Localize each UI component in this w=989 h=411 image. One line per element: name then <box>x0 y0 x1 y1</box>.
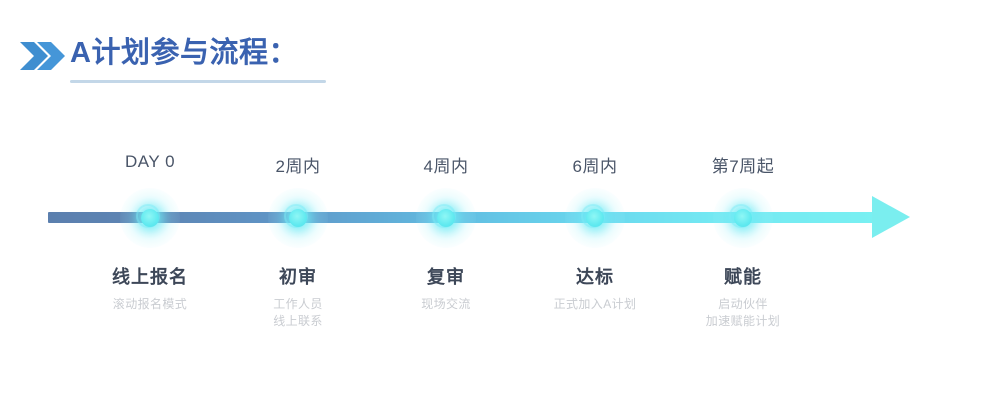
step-time-3: 4周内 <box>424 152 469 177</box>
step-desc-3: 现场交流 <box>421 296 471 313</box>
step-desc-1-line-1: 滚动报名模式 <box>113 296 187 313</box>
step-desc-2-line-2: 线上联系 <box>273 313 323 330</box>
step-desc-2: 工作人员 线上联系 <box>273 296 323 330</box>
node-dot-icon <box>437 209 455 227</box>
step-desc-3-line-1: 现场交流 <box>421 296 471 313</box>
step-desc-4-line-1: 正式加入A计划 <box>554 296 637 313</box>
node-dot-icon <box>141 209 159 227</box>
step-time-2: 2周内 <box>276 152 321 177</box>
step-title-3: 复审 <box>427 263 465 289</box>
step-time-5: 第7周起 <box>712 152 774 177</box>
step-time-4: 6周内 <box>573 152 618 177</box>
step-title-5: 赋能 <box>724 263 762 289</box>
node-dot-icon <box>289 209 307 227</box>
node-dot-icon <box>734 209 752 227</box>
arrow-right-icon <box>872 196 910 238</box>
timeline-diagram: DAY 0 线上报名 滚动报名模式 2周内 初审 工作人员 线上联系 4周内 复… <box>0 0 989 411</box>
step-desc-1: 滚动报名模式 <box>113 296 187 313</box>
step-desc-5: 启动伙伴 加速赋能计划 <box>706 296 780 330</box>
step-desc-2-line-1: 工作人员 <box>273 296 323 313</box>
step-title-2: 初审 <box>279 263 317 289</box>
step-time-1: DAY 0 <box>125 152 175 172</box>
step-title-4: 达标 <box>576 263 614 289</box>
step-title-1: 线上报名 <box>112 263 188 289</box>
node-dot-icon <box>586 209 604 227</box>
step-desc-5-line-1: 启动伙伴 <box>706 296 780 313</box>
step-desc-4: 正式加入A计划 <box>554 296 637 313</box>
step-desc-5-line-2: 加速赋能计划 <box>706 313 780 330</box>
